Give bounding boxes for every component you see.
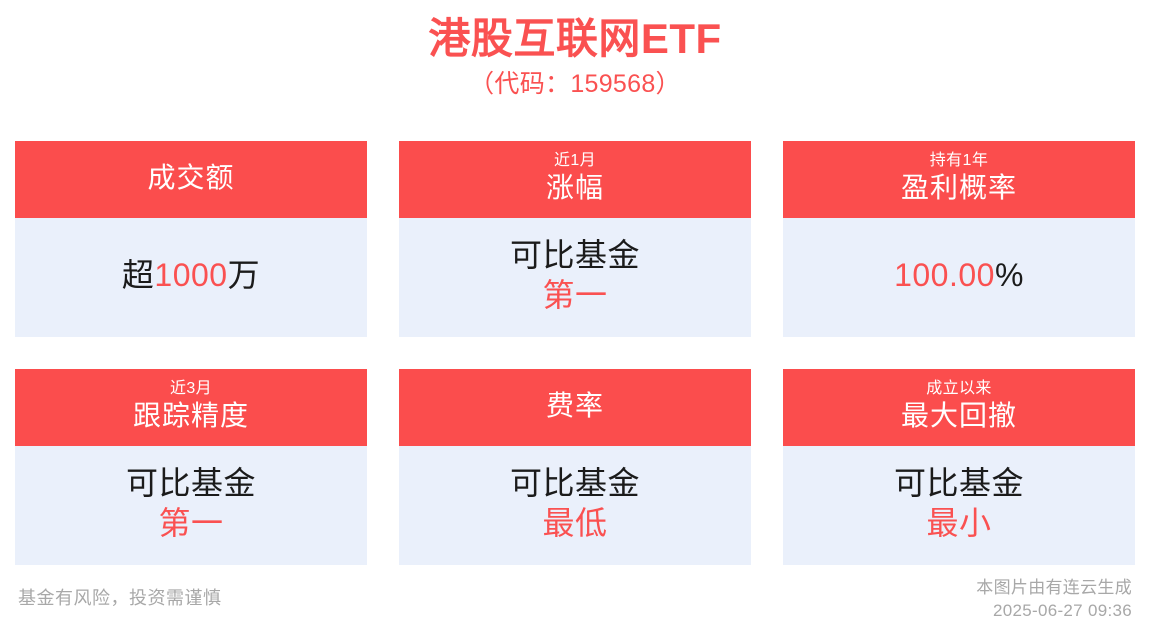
metric-value-line: 可比基金 [510,236,640,275]
metric-value-highlight: 1000 [154,257,227,293]
metric-title: 涨幅 [546,171,604,205]
metric-card-header: 近3月跟踪精度 [15,369,367,446]
metric-value-text: 可比基金 [894,465,1024,501]
metric-card-grid: 成交额超1000万近1月涨幅可比基金第一持有1年盈利概率100.00%近3月跟踪… [15,141,1135,565]
metric-card-body: 可比基金最低 [399,446,751,565]
page-header: 港股互联网ETF （代码：159568） [0,0,1150,101]
metric-card-body: 超1000万 [15,218,367,337]
metric-period-label: 成立以来 [926,379,992,399]
metric-card-body: 可比基金最小 [783,446,1135,565]
metric-card: 费率可比基金最低 [399,369,751,565]
metric-card-header: 近1月涨幅 [399,141,751,218]
metric-card: 持有1年盈利概率100.00% [783,141,1135,337]
metric-card-header: 成立以来最大回撤 [783,369,1135,446]
metric-title: 盈利概率 [901,171,1017,205]
metric-card-header: 费率 [399,369,751,446]
metric-value-line: 可比基金 [510,464,640,503]
metric-value-line: 最小 [926,504,991,543]
metric-title: 跟踪精度 [133,399,249,433]
page-title: 港股互联网ETF [0,14,1150,64]
metric-value-line: 第一 [158,504,223,543]
metric-card: 成立以来最大回撤可比基金最小 [783,369,1135,565]
metric-card: 近3月跟踪精度可比基金第一 [15,369,367,565]
metric-title: 成交额 [147,161,234,195]
metric-period-label: 近3月 [170,379,212,399]
page-footer: 基金有风险，投资需谨慎 本图片由有连云生成 2025-06-27 09:36 [0,574,1150,632]
metric-title: 最大回撤 [901,399,1017,433]
generation-timestamp: 2025-06-27 09:36 [976,600,1132,622]
metric-period-label: 近1月 [554,151,596,171]
metric-value-text: 可比基金 [510,465,640,501]
metric-value-highlight: 100.00 [894,257,995,293]
metric-value-highlight: 最小 [926,505,991,541]
metric-value-line: 最低 [542,504,607,543]
metric-card-header: 持有1年盈利概率 [783,141,1135,218]
metric-card-body: 100.00% [783,218,1135,337]
generation-source: 本图片由有连云生成 [976,577,1132,599]
metric-value-text: % [995,257,1024,293]
metric-card-header: 成交额 [15,141,367,218]
metric-value-line: 第一 [542,276,607,315]
metric-value-text: 可比基金 [126,465,256,501]
metric-value-line: 可比基金 [126,464,256,503]
metric-value-line: 超1000万 [122,256,260,295]
metric-period-label: 持有1年 [930,151,989,171]
metric-card-body: 可比基金第一 [399,218,751,337]
metric-value-highlight: 第一 [158,505,223,541]
metric-card-body: 可比基金第一 [15,446,367,565]
metric-value-highlight: 第一 [542,277,607,313]
risk-disclaimer: 基金有风险，投资需谨慎 [18,587,222,622]
metric-value-text: 超 [122,257,155,293]
metric-value-line: 100.00% [894,256,1024,295]
metric-value-text: 可比基金 [510,237,640,273]
metric-value-highlight: 最低 [542,505,607,541]
generation-info: 本图片由有连云生成 2025-06-27 09:36 [976,577,1132,622]
metric-card: 成交额超1000万 [15,141,367,337]
metric-value-line: 可比基金 [894,464,1024,503]
metric-title: 费率 [546,389,604,423]
metric-card: 近1月涨幅可比基金第一 [399,141,751,337]
metric-value-text: 万 [228,257,261,293]
fund-code-subtitle: （代码：159568） [0,68,1150,102]
